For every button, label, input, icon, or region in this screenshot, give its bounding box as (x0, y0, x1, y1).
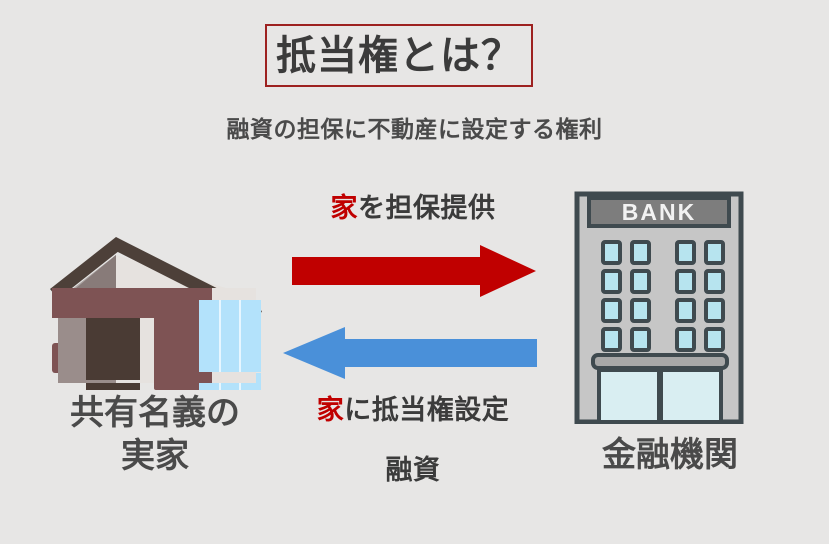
loan-arrow-left (283, 327, 537, 384)
bank-illustration: BANK (573, 190, 745, 429)
loan-sub-label: 融資 (283, 448, 543, 487)
bank-sign-text: BANK (622, 199, 696, 225)
bottom-arrow-label-rest: に抵当権設定 (344, 395, 509, 425)
house-caption: 共有名義の 実家 (20, 392, 290, 477)
bank-caption: 金融機関 (545, 435, 795, 476)
bottom-arrow-label: 家に抵当権設定 (283, 388, 543, 427)
slide-canvas: 抵当権とは？ 融資の担保に不動産に設定する権利 (0, 0, 829, 544)
top-arrow-label: 家を担保提供 (283, 186, 543, 225)
top-arrow-label-highlight: 家 (331, 193, 359, 223)
title-box: 抵当権とは？ (265, 24, 533, 87)
house-illustration (42, 185, 272, 395)
house-caption-line1: 共有名義の (20, 392, 290, 435)
house-caption-line2: 実家 (20, 435, 290, 478)
page-title: 抵当権とは？ (276, 36, 522, 76)
bottom-arrow-label-highlight: 家 (317, 395, 345, 425)
collateral-arrow-right (292, 245, 536, 302)
top-arrow-label-rest: を担保提供 (358, 193, 496, 223)
page-subtitle: 融資の担保に不動産に設定する権利 (0, 110, 829, 144)
